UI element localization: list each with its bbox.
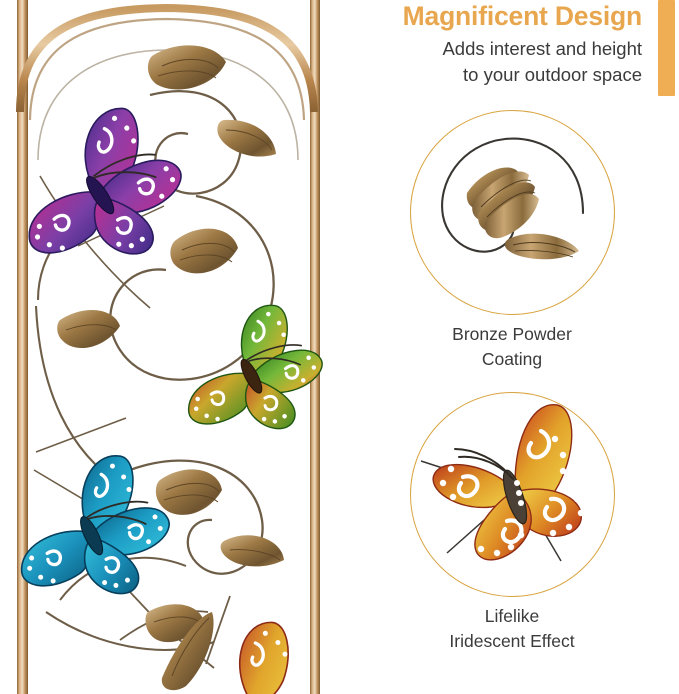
feature-bronze-powder-coating: Bronze Powder Coating — [345, 110, 679, 380]
accent-bar — [658, 0, 675, 96]
feature-1-circle — [410, 110, 615, 315]
feature-1-caption-line-1: Bronze Powder — [345, 322, 679, 347]
feature-2-caption: Lifelike Iridescent Effect — [345, 604, 679, 654]
purple-butterfly — [7, 98, 196, 275]
product-photo — [0, 0, 345, 694]
green-butterfly — [176, 299, 331, 441]
butterfly-detail-icon — [411, 393, 615, 597]
leaf-top-right — [217, 120, 276, 157]
feature-2-circle — [410, 392, 615, 597]
feature-lifelike-iridescent-effect: Lifelike Iridescent Effect — [345, 392, 679, 682]
trellis-illustration — [0, 0, 345, 694]
subtitle-line-2: to your outdoor space — [352, 62, 642, 88]
feature-2-caption-line-1: Lifelike — [345, 604, 679, 629]
header-block: Magnificent Design Adds interest and hei… — [345, 0, 679, 104]
marketing-panel: Magnificent Design Adds interest and hei… — [345, 0, 679, 694]
subtitle-line-1: Adds interest and height — [352, 36, 642, 62]
product-feature-image: Magnificent Design Adds interest and hei… — [0, 0, 679, 694]
blue-butterfly — [11, 451, 176, 604]
leaf-left-upper — [57, 310, 120, 348]
leaf-lower — [504, 234, 578, 260]
feature-1-caption: Bronze Powder Coating — [345, 322, 679, 372]
page-subtitle: Adds interest and height to your outdoor… — [352, 36, 642, 89]
leaf-mid-upper — [170, 229, 238, 274]
feature-1-circle-wrap — [345, 110, 679, 315]
leaf-top-center — [148, 45, 226, 89]
feature-1-caption-line-2: Coating — [345, 347, 679, 372]
leaf-right-lower — [221, 535, 284, 566]
leaf-mid-center — [156, 469, 222, 515]
feature-2-circle-wrap — [345, 392, 679, 597]
page-title: Magnificent Design — [352, 2, 642, 32]
feature-2-caption-line-2: Iridescent Effect — [345, 629, 679, 654]
bronze-leaf-detail-icon — [411, 111, 615, 315]
leaf-cluster-upper — [466, 167, 538, 238]
